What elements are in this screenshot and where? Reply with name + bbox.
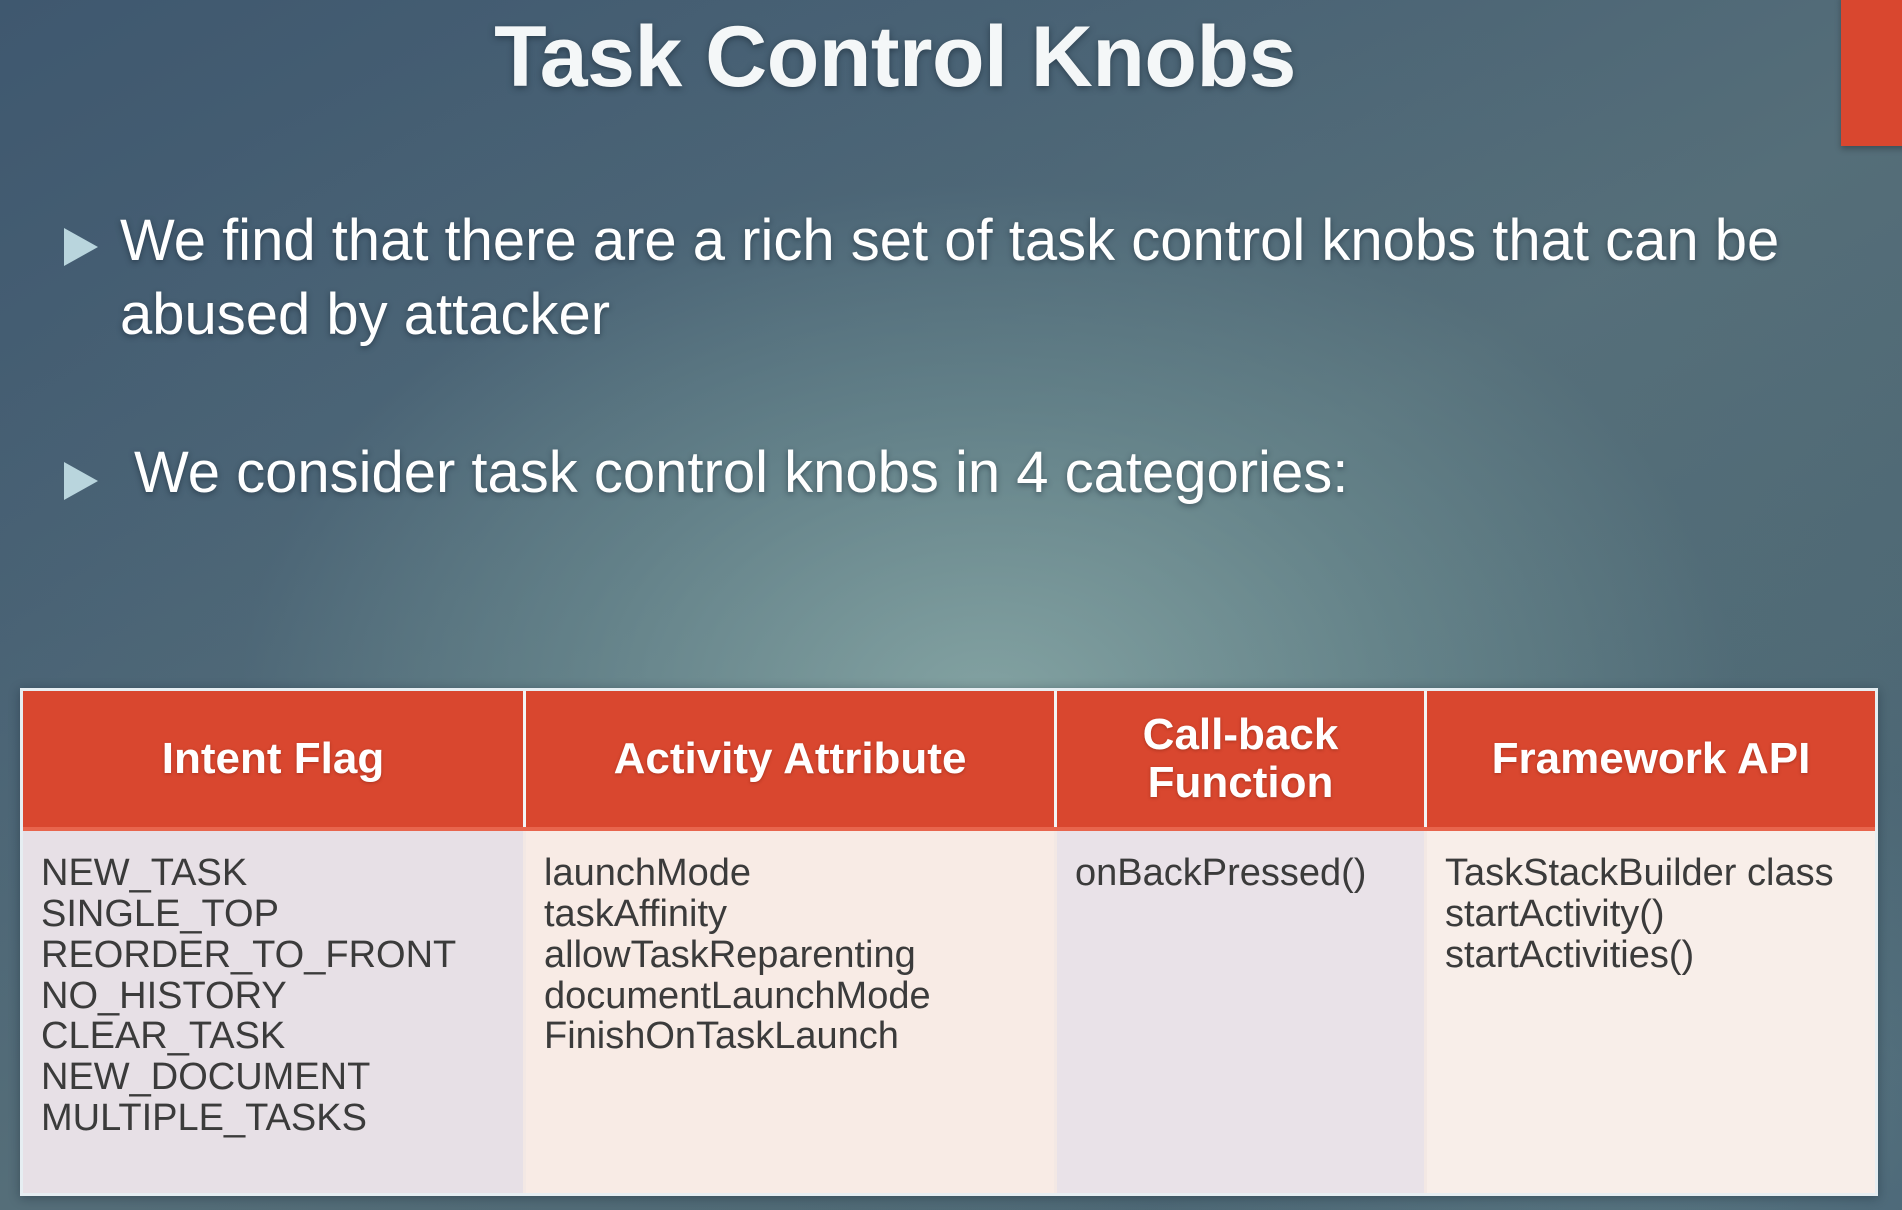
table-cell-line: CLEAR_TASK	[41, 1016, 505, 1057]
bullet-item-2-label: We consider task control knobs in 4 cate…	[120, 436, 1850, 510]
table-cell-line: REORDER_TO_FRONT	[41, 935, 505, 976]
page-title: Task Control Knobs	[0, 12, 1790, 102]
table-cell-line: startActivities()	[1445, 935, 1857, 976]
table-cell-line: SINGLE_TOP	[41, 894, 505, 935]
table-body-row: NEW_TASKSINGLE_TOPREORDER_TO_FRONTNO_HIS…	[23, 831, 1875, 1193]
table-header-row: Intent Flag Activity Attribute Call-back…	[23, 691, 1875, 827]
table-cell-line: NO_HISTORY	[41, 976, 505, 1017]
triangle-bullet-icon	[60, 436, 120, 504]
table-cell-line: TaskStackBuilder class	[1445, 853, 1857, 894]
table-cell-line: FinishOnTaskLaunch	[544, 1016, 1036, 1057]
table-header-activity-attribute: Activity Attribute	[526, 691, 1057, 827]
table-header-call-back-function: Call-back Function	[1057, 691, 1427, 827]
table-cell-call-back-function: onBackPressed()	[1057, 831, 1427, 1193]
table-cell-line: allowTaskReparenting	[544, 935, 1036, 976]
table-cell-intent-flag: NEW_TASKSINGLE_TOPREORDER_TO_FRONTNO_HIS…	[23, 831, 526, 1193]
triangle-bullet-icon	[60, 204, 120, 270]
table-cell-line: documentLaunchMode	[544, 976, 1036, 1017]
table-header-framework-api: Framework API	[1427, 691, 1875, 827]
table-cell-line: launchMode	[544, 853, 1036, 894]
table-cell-line: MULTIPLE_TASKS	[41, 1098, 505, 1139]
task-control-knobs-table: Intent Flag Activity Attribute Call-back…	[20, 688, 1878, 1196]
bullet-item-1-label: We find that there are a rich set of tas…	[120, 204, 1850, 352]
table-cell-framework-api: TaskStackBuilder classstartActivity()sta…	[1427, 831, 1875, 1193]
accent-bar	[1841, 0, 1902, 146]
table-cell-line: NEW_DOCUMENT	[41, 1057, 505, 1098]
table-cell-line: onBackPressed()	[1075, 853, 1406, 894]
slide-canvas: Task Control Knobs We find that there ar…	[0, 0, 1902, 1210]
table-cell-line: startActivity()	[1445, 894, 1857, 935]
bullet-list: We find that there are a rich set of tas…	[60, 204, 1850, 511]
bullet-item-1: We find that there are a rich set of tas…	[60, 204, 1850, 352]
table-cell-activity-attribute: launchModetaskAffinityallowTaskReparenti…	[526, 831, 1057, 1193]
table-header-intent-flag: Intent Flag	[23, 691, 526, 827]
table-cell-line: NEW_TASK	[41, 853, 505, 894]
bullet-item-2: We consider task control knobs in 4 cate…	[60, 436, 1850, 510]
table-cell-line: taskAffinity	[544, 894, 1036, 935]
